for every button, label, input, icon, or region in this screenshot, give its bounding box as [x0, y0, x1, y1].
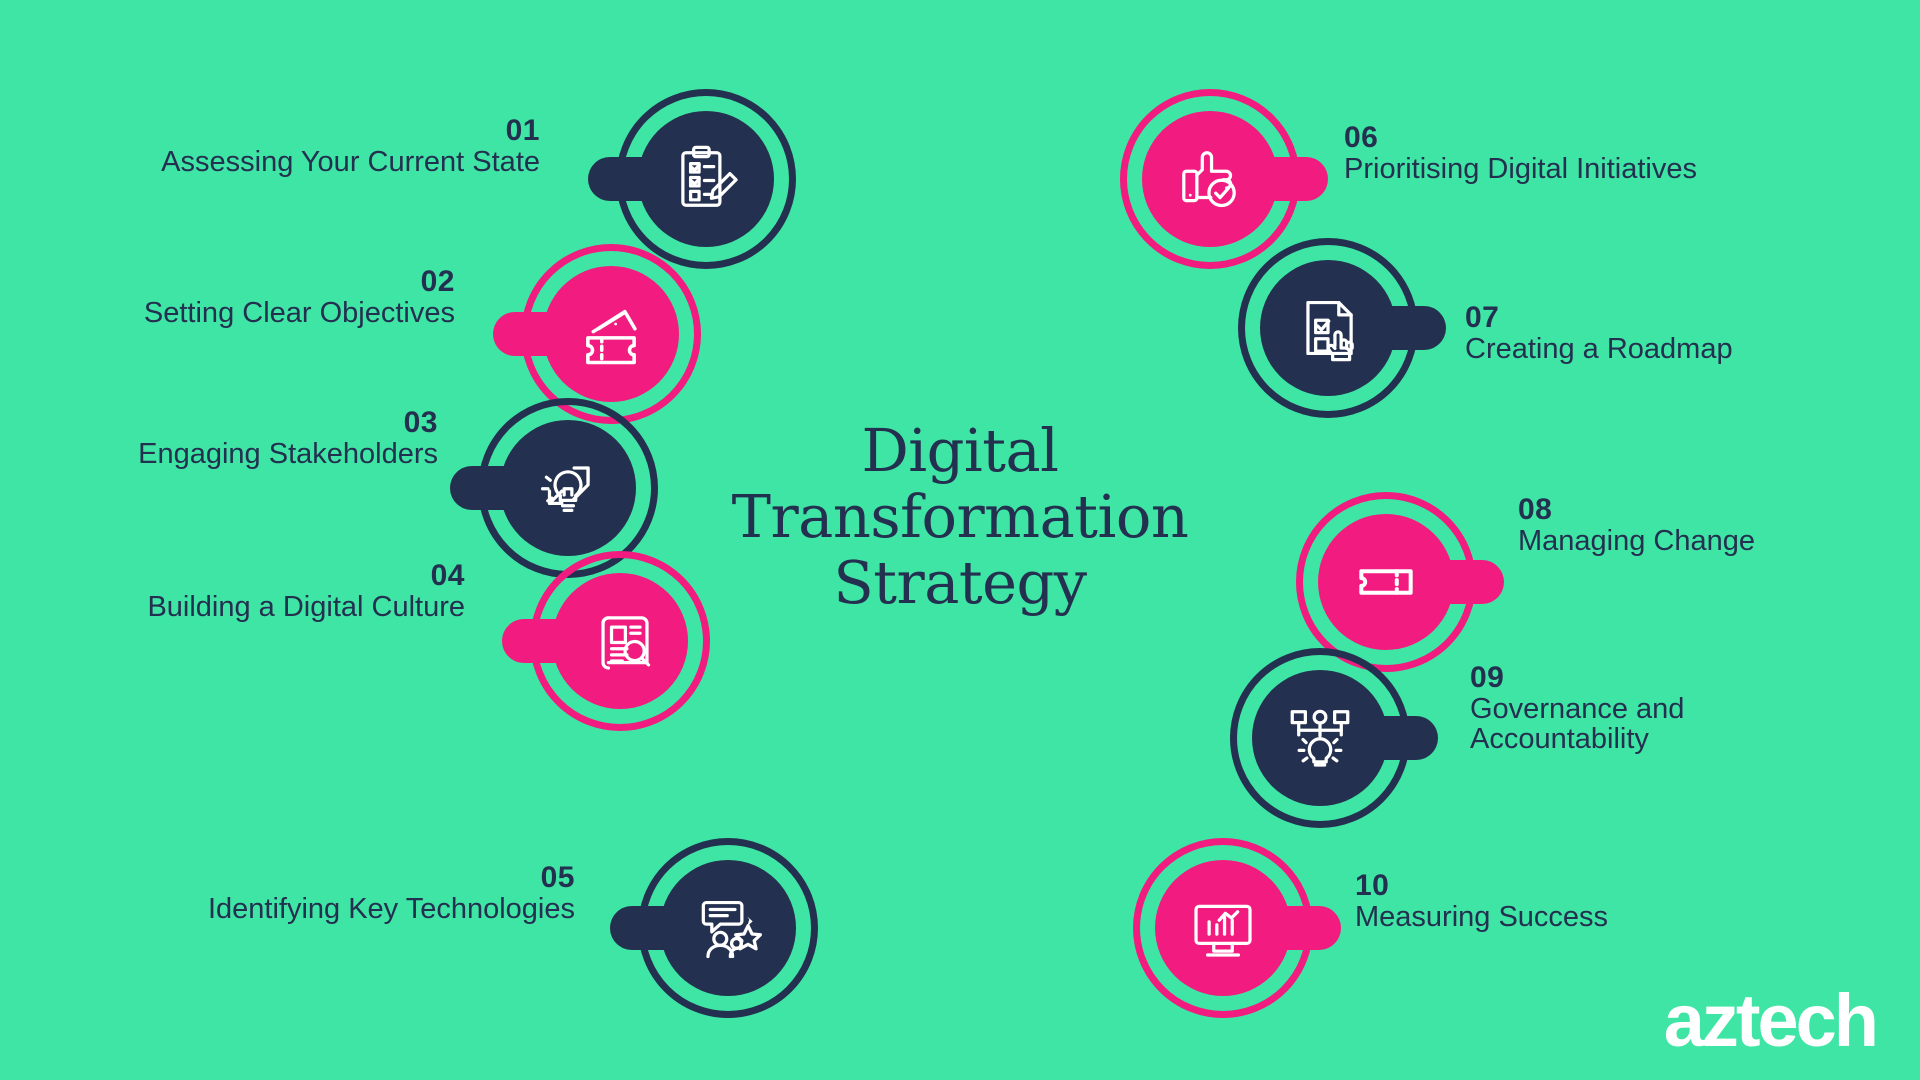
list-item: 10 Measuring Success: [1355, 870, 1815, 932]
item-label: Measuring Success: [1355, 902, 1815, 932]
governance-network-bulb-icon: [1252, 670, 1388, 806]
item-number: 06: [1344, 122, 1904, 154]
badge-02[interactable]: [521, 244, 701, 424]
item-number: 05: [40, 862, 575, 894]
badge-01[interactable]: [616, 89, 796, 269]
item-label: Setting Clear Objectives: [0, 298, 455, 328]
list-item: 06 Prioritising Digital Initiatives: [1344, 122, 1904, 184]
clipboard-checklist-pencil-icon: [638, 111, 774, 247]
item-number: 02: [0, 266, 455, 298]
item-label: Managing Change: [1518, 526, 1918, 556]
item-number: 01: [20, 115, 540, 147]
thumbs-up-check-icon: [1142, 111, 1278, 247]
item-number: 10: [1355, 870, 1815, 902]
list-item: 09 Governance and Accountability: [1470, 662, 1900, 754]
item-number: 04: [0, 560, 465, 592]
item-label: Identifying Key Technologies: [40, 894, 575, 924]
badge-10[interactable]: [1133, 838, 1313, 1018]
document-checkbox-hand-icon: [1260, 260, 1396, 396]
item-number: 03: [0, 407, 438, 439]
badge-06[interactable]: [1120, 89, 1300, 269]
item-label: Creating a Roadmap: [1465, 334, 1920, 364]
item-number: 07: [1465, 302, 1920, 334]
badge-04[interactable]: [530, 551, 710, 731]
chat-people-icon: [660, 860, 796, 996]
item-label: Engaging Stakeholders: [0, 439, 438, 469]
item-label: Building a Digital Culture: [0, 592, 465, 622]
list-item: 04 Building a Digital Culture: [0, 560, 465, 622]
monitor-chart-icon: [1155, 860, 1291, 996]
page-title: Digital Transformation Strategy: [660, 418, 1260, 616]
list-item: 01 Assessing Your Current State: [20, 115, 540, 177]
list-item: 05 Identifying Key Technologies: [40, 862, 575, 924]
aztech-logo: aztech: [1664, 984, 1876, 1058]
item-number: 09: [1470, 662, 1900, 694]
item-label: Prioritising Digital Initiatives: [1344, 154, 1904, 184]
title-line-3: Strategy: [660, 550, 1260, 616]
list-item: 08 Managing Change: [1518, 494, 1918, 556]
ticket-icon: [1318, 514, 1454, 650]
title-line-1: Digital: [660, 418, 1260, 484]
tickets-icon: [543, 266, 679, 402]
badge-09[interactable]: [1230, 648, 1410, 828]
title-line-2: Transformation: [660, 484, 1260, 550]
badge-07[interactable]: [1238, 238, 1418, 418]
badge-03[interactable]: [478, 398, 658, 578]
badge-05[interactable]: [638, 838, 818, 1018]
document-magnifier-icon: [552, 573, 688, 709]
item-label: Assessing Your Current State: [20, 147, 540, 177]
list-item: 07 Creating a Roadmap: [1465, 302, 1920, 364]
badge-08[interactable]: [1296, 492, 1476, 672]
infographic-canvas: 01 Assessing Your Current State 02 Setti…: [0, 0, 1920, 1080]
lightbulb-idea-icon: [500, 420, 636, 556]
item-label: Governance and Accountability: [1470, 694, 1900, 755]
item-number: 08: [1518, 494, 1918, 526]
list-item: 03 Engaging Stakeholders: [0, 407, 438, 469]
list-item: 02 Setting Clear Objectives: [0, 266, 455, 328]
